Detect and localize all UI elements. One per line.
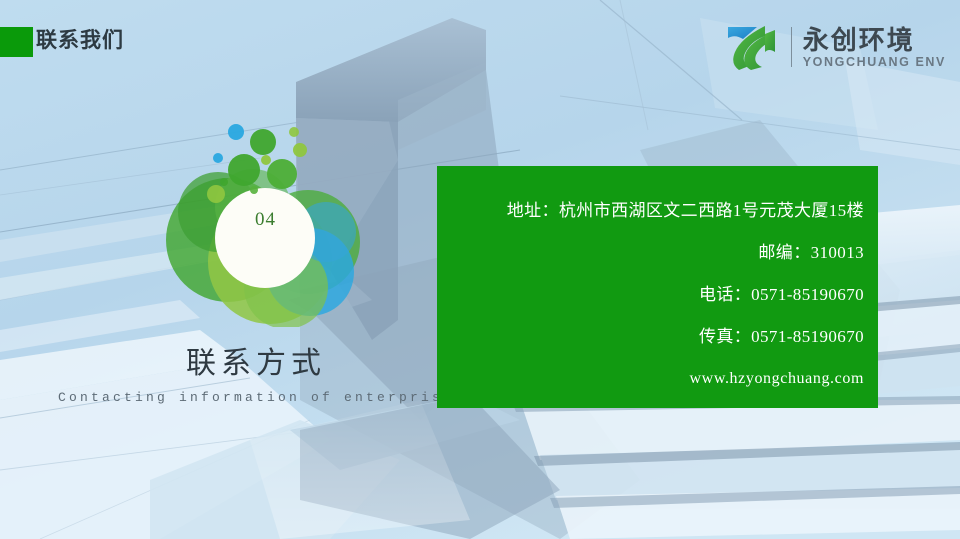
section-number-badge: 04 xyxy=(158,112,373,327)
circle-cluster-ring-icon xyxy=(158,112,373,327)
caption-subtitle-en: Contacting information of enterprise xyxy=(46,389,466,406)
contact-fax: 传真：0571-85190670 xyxy=(455,326,864,348)
page-title: 联系我们 xyxy=(36,26,124,56)
slide-canvas: 联系我们 xyxy=(0,0,960,539)
header-green-marker xyxy=(0,27,33,57)
contact-website[interactable]: www.hzyongchuang.com xyxy=(455,368,864,390)
company-logo: 永创环境 YONGCHUANG ENV xyxy=(723,21,946,73)
contact-postcode: 邮编：310013 xyxy=(455,242,864,264)
contact-phone: 电话：0571-85190670 xyxy=(455,284,864,306)
logo-name-cn: 永创环境 xyxy=(803,26,946,54)
section-caption: 联系方式 Contacting information of enterpris… xyxy=(46,345,466,406)
yongchuang-leaf-logo-icon xyxy=(723,22,785,72)
logo-divider xyxy=(791,27,792,67)
caption-title-cn: 联系方式 xyxy=(46,345,466,383)
logo-name-en: YONGCHUANG ENV xyxy=(803,55,946,69)
contact-address: 地址：杭州市西湖区文二西路1号元茂大厦15楼 xyxy=(455,200,864,222)
slide-header: 联系我们 xyxy=(0,0,960,92)
contact-info-panel: 地址：杭州市西湖区文二西路1号元茂大厦15楼 邮编：310013 电话：0571… xyxy=(437,166,878,408)
